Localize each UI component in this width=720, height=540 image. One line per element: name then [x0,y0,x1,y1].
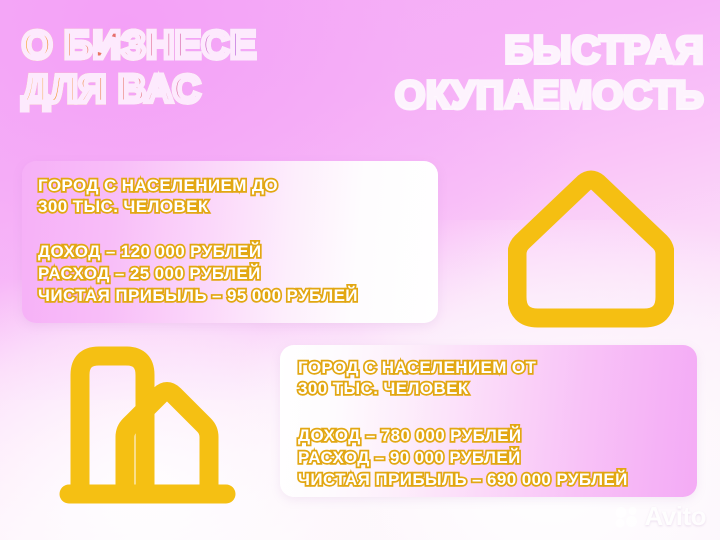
card-large-city-heading-line-1: ГОРОД С НАСЕЛЕНИЕМ ОТ [298,357,697,378]
headline-right: БЫСТРАЯ ОКУПАЕМОСТЬ [395,28,704,118]
headline-left-line-1: О БИЗНЕСЕ [22,24,257,68]
headline-right-line-1: БЫСТРАЯ [395,28,704,73]
card-small-city-stat-income: ДОХОД – 120 000 РУБЛЕЙ [38,241,438,263]
card-large-city-stat-income: ДОХОД – 780 000 РУБЛЕЙ [298,425,697,447]
headline-left: О БИЗНЕСЕ ДЛЯ ВАС [22,24,257,112]
avito-logo-icon [614,506,640,528]
card-large-city: ГОРОД С НАСЕЛЕНИЕМ ОТ 300 ТЫС. ЧЕЛОВЕК Д… [280,345,697,497]
card-large-city-heading: ГОРОД С НАСЕЛЕНИЕМ ОТ 300 ТЫС. ЧЕЛОВЕК [298,357,697,399]
card-small-city-stat-profit: ЧИСТАЯ ПРИБЫЛЬ – 95 000 РУБЛЕЙ [38,285,438,307]
house-outline-icon [508,166,674,332]
avito-watermark-label: Avito [644,501,706,532]
card-small-city-stat-expense: РАСХОД – 25 000 РУБЛЕЙ [38,263,438,285]
card-small-city-heading: ГОРОД С НАСЕЛЕНИЕМ ДО 300 ТЫС. ЧЕЛОВЕК [38,175,438,217]
card-small-city: ГОРОД С НАСЕЛЕНИЕМ ДО 300 ТЫС. ЧЕЛОВЕК Д… [22,161,438,323]
headline-left-line-2: ДЛЯ ВАС [22,68,257,112]
card-small-city-heading-line-1: ГОРОД С НАСЕЛЕНИЕМ ДО [38,175,438,196]
city-buildings-outline-icon [58,342,246,508]
card-large-city-stat-profit: ЧИСТАЯ ПРИБЫЛЬ – 690 000 РУБЛЕЙ [298,469,697,491]
card-large-city-heading-line-2: 300 ТЫС. ЧЕЛОВЕК [298,378,697,399]
card-large-city-stat-expense: РАСХОД – 90 000 РУБЛЕЙ [298,447,697,469]
headline-right-line-2: ОКУПАЕМОСТЬ [395,73,704,118]
poster-canvas: О БИЗНЕСЕ ДЛЯ ВАС БЫСТРАЯ ОКУПАЕМОСТЬ ГО… [0,0,720,540]
card-large-city-stats: ДОХОД – 780 000 РУБЛЕЙ РАСХОД – 90 000 Р… [298,425,697,491]
avito-watermark: Avito [614,501,706,532]
card-small-city-heading-line-2: 300 ТЫС. ЧЕЛОВЕК [38,196,438,217]
card-small-city-stats: ДОХОД – 120 000 РУБЛЕЙ РАСХОД – 25 000 Р… [38,241,438,307]
